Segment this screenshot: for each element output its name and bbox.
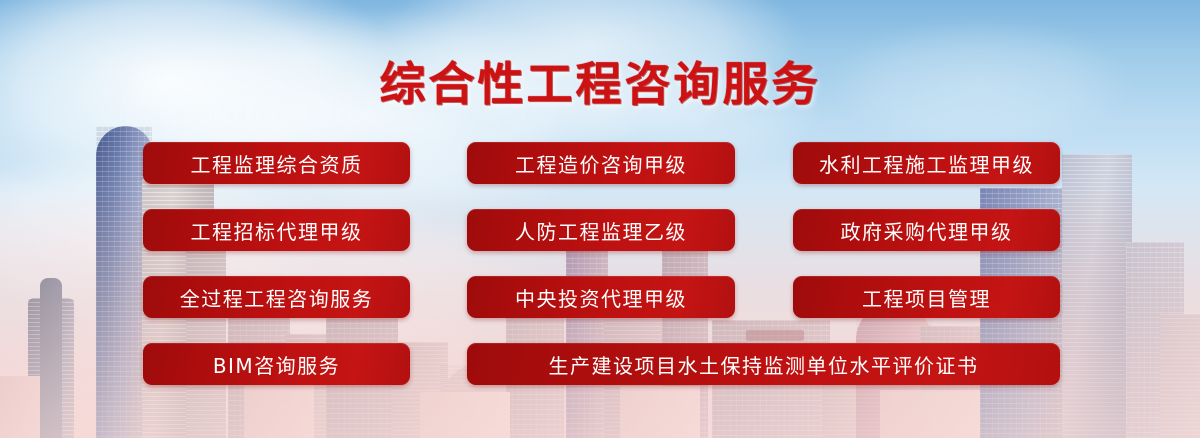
qualifications-banner: 综合性工程咨询服务 工程监理综合资质 工程造价咨询甲级 水利工程施工监理甲级 工… — [0, 0, 1200, 438]
page-title: 综合性工程咨询服务 — [0, 48, 1200, 114]
qualification-tag[interactable]: 工程造价咨询甲级 — [467, 142, 735, 184]
qualification-tag[interactable]: 生产建设项目水土保持监测单位水平评价证书 — [467, 343, 1060, 385]
qualification-tag[interactable]: 政府采购代理甲级 — [793, 209, 1060, 251]
qualification-tag[interactable]: 人防工程监理乙级 — [467, 209, 735, 251]
qualification-tag[interactable]: BIM咨询服务 — [143, 343, 410, 385]
qualification-tag[interactable]: 工程招标代理甲级 — [143, 209, 410, 251]
qualification-tag[interactable]: 工程监理综合资质 — [143, 142, 410, 184]
qualification-tag[interactable]: 水利工程施工监理甲级 — [793, 142, 1060, 184]
banner-content: 综合性工程咨询服务 工程监理综合资质 工程造价咨询甲级 水利工程施工监理甲级 工… — [0, 0, 1200, 438]
qualification-tag[interactable]: 中央投资代理甲级 — [467, 276, 735, 318]
qualification-tag[interactable]: 工程项目管理 — [793, 276, 1060, 318]
qualification-tag[interactable]: 全过程工程咨询服务 — [143, 276, 410, 318]
